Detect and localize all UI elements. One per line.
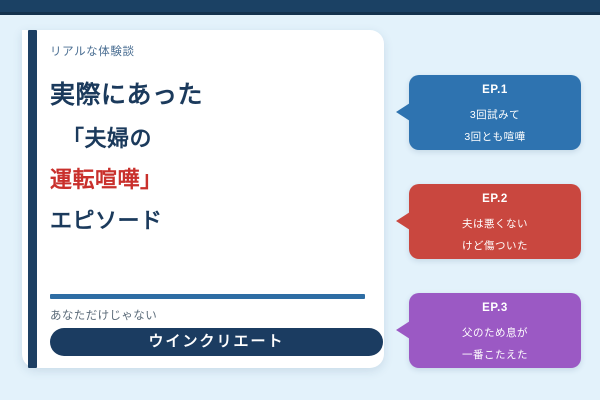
bubble-1-title: EP.1 bbox=[409, 84, 581, 98]
episode-bubble-2[interactable]: EP.2 夫は悪くない けど傷ついた bbox=[409, 184, 581, 259]
bubble-tail-icon bbox=[396, 212, 410, 230]
bubble-tail-icon bbox=[396, 321, 410, 339]
episode-bubble-1[interactable]: EP.1 3回試みて 3回とも喧嘩 bbox=[409, 75, 581, 150]
bubble-2-title: EP.2 bbox=[409, 193, 581, 207]
bubble-3-line-2: 一番こたえた bbox=[409, 349, 581, 362]
card-accent-bar bbox=[28, 30, 37, 368]
headline-line-4: エピソード bbox=[50, 208, 370, 235]
brand-cta-button[interactable]: ウインクリエート bbox=[50, 328, 383, 356]
bubble-3-line-1: 父のため息が bbox=[409, 327, 581, 340]
story-card: リアルな体験談 実際にあった 「夫婦の 運転喧嘩」 エピソード あなただけじゃな… bbox=[22, 30, 384, 368]
reassurance-text: あなただけじゃない bbox=[50, 307, 157, 323]
bubble-tail-icon bbox=[396, 103, 410, 121]
top-bar bbox=[0, 0, 600, 12]
headline-line-2: 「夫婦の bbox=[50, 126, 370, 153]
bubble-3-title: EP.3 bbox=[409, 302, 581, 316]
headline-line-1: 実際にあった bbox=[50, 80, 370, 111]
bubble-1-line-1: 3回試みて bbox=[409, 109, 581, 122]
eyebrow-label: リアルな体験談 bbox=[50, 46, 370, 60]
card-content: リアルな体験談 実際にあった 「夫婦の 運転喧嘩」 エピソード あなただけじゃな… bbox=[50, 30, 370, 368]
section-divider bbox=[50, 294, 365, 299]
top-bar-underline bbox=[0, 12, 600, 15]
slide-canvas: リアルな体験談 実際にあった 「夫婦の 運転喧嘩」 エピソード あなただけじゃな… bbox=[0, 0, 600, 400]
episode-bubble-3[interactable]: EP.3 父のため息が 一番こたえた bbox=[409, 293, 581, 368]
headline-line-3-highlight: 運転喧嘩」 bbox=[50, 167, 370, 194]
bubble-1-line-2: 3回とも喧嘩 bbox=[409, 131, 581, 144]
bubble-2-line-2: けど傷ついた bbox=[409, 240, 581, 253]
headline-block: 実際にあった 「夫婦の 運転喧嘩」 エピソード bbox=[50, 80, 370, 235]
bubble-2-line-1: 夫は悪くない bbox=[409, 218, 581, 231]
